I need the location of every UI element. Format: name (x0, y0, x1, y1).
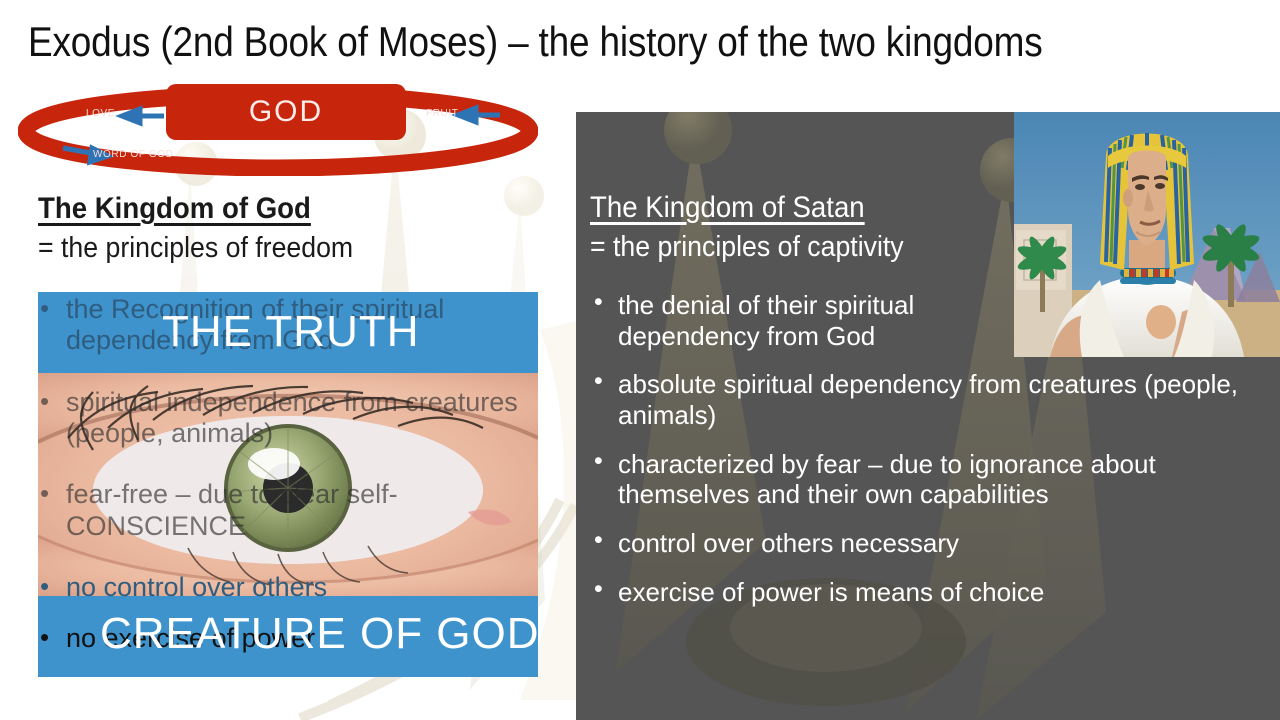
kingdom-of-satan-heading: The Kingdom of Satan (590, 191, 1013, 225)
oval-label-word-of-god: WORD OF GOD (93, 149, 173, 160)
banner-text-the-truth: THE TRUTH (162, 307, 420, 357)
list-item: spiritual independence from creatures (p… (64, 387, 558, 450)
list-item: fear-free – due to clear self-CONSCIENCE (64, 479, 558, 542)
slide-canvas: Exodus (2nd Book of Moses) – the history… (0, 0, 1280, 720)
list-item: absolute spiritual dependency from creat… (618, 369, 1270, 430)
page-title: Exodus (2nd Book of Moses) – the history… (28, 18, 1084, 65)
kingdom-of-god-subheading: = the principles of freedom (38, 232, 516, 265)
list-item: exercise of power is means of choice (618, 577, 1270, 608)
oval-label-love: LOVE (86, 108, 115, 119)
list-item: characterized by fear – due to ignorance… (618, 449, 1270, 510)
god-label-box: GOD (166, 84, 406, 140)
list-item: control over others necessary (618, 528, 1270, 559)
arrow-love (122, 109, 164, 123)
god-oval-diagram: GOD LOVE FRUIT WORD OF GOD (18, 86, 538, 176)
pharaoh-image (1014, 112, 1280, 357)
list-item: no control over others (64, 572, 558, 603)
banner-text-creature-of-god: CREATURE OF GOD (100, 609, 540, 659)
kingdom-of-satan-subheading: = the principles of captivity (590, 231, 1032, 264)
oval-label-fruit: FRUIT (426, 108, 458, 119)
kingdom-of-god-heading: The Kingdom of God (38, 192, 498, 226)
